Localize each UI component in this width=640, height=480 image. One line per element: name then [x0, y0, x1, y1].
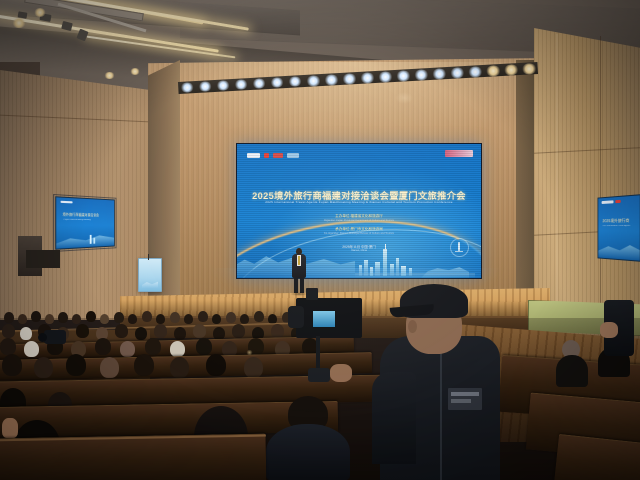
- audience-head: [170, 357, 189, 378]
- spotlight-glow: [288, 76, 303, 87]
- spotlight-glow: [342, 73, 358, 85]
- lectern-mic: [148, 254, 149, 260]
- spotlight-glow: [234, 79, 249, 90]
- speaker-legs: [294, 277, 298, 293]
- spotlight-glow: [521, 63, 537, 75]
- wall-emblem: [395, 92, 413, 104]
- foreground-attendee-suit: [270, 396, 346, 480]
- audience-head: [206, 354, 226, 376]
- attendee-hand: [2, 418, 18, 438]
- spotlight-glow: [396, 70, 412, 82]
- spotlight-glow: [360, 72, 376, 84]
- attendee-right-seated: [556, 340, 590, 386]
- truss-lamp-glow-1: [12, 18, 26, 28]
- speaker-tie: [298, 256, 300, 265]
- right-screen-wave: [598, 238, 639, 260]
- led-scanline-overlay: [237, 144, 481, 278]
- audience-camera-lens: [38, 333, 47, 342]
- videographer: [372, 276, 522, 480]
- lectern[interactable]: [138, 258, 162, 292]
- spotlight-glow: [324, 74, 340, 86]
- wall-seam-right-vert: [600, 36, 601, 336]
- audience-head: [2, 354, 22, 376]
- spotlight-glow: [467, 66, 483, 78]
- attendee-shoulders: [556, 355, 588, 387]
- right-screen-title-cn: 2025境外旅行商: [602, 217, 638, 223]
- photo-scene: 境外旅行商福建对接洽谈会 Fujian Matchmaking Meeting …: [0, 0, 640, 480]
- ceiling-downlight-2: [130, 68, 140, 75]
- speaker-legs: [300, 277, 304, 293]
- ceiling-downlight-1: [104, 72, 115, 79]
- spotlight-glow: [485, 65, 501, 77]
- right-screen-title-en: 2025 International Travel Agents: [602, 225, 638, 228]
- main-led-screen-frame: 2025境外旅行商福建对接洽谈会暨厦门文旅推介会 2025 Internatio…: [236, 143, 482, 279]
- spotlight-glow: [270, 77, 285, 88]
- camera-rig-grip: [308, 368, 330, 382]
- main-led-screen: 2025境外旅行商福建对接洽谈会暨厦门文旅推介会 2025 Internatio…: [237, 144, 481, 278]
- wall-highlight-right: [556, 34, 558, 334]
- spotlight-glow: [198, 81, 213, 92]
- videographer-hand: [330, 364, 352, 382]
- spotlight-glow: [432, 68, 448, 80]
- seat-block-right-3: [554, 434, 640, 480]
- house-light-glint: [246, 350, 253, 355]
- side-screen-right: 2025境外旅行商 2025 International Travel Agen…: [598, 194, 640, 262]
- jacket-patch-text: [451, 392, 479, 396]
- spotlight-glow: [180, 82, 195, 93]
- right-screen-logo-red: [615, 200, 620, 203]
- attendee-shoulders: [266, 424, 350, 480]
- spotlight-glow: [306, 75, 322, 87]
- audience-head: [34, 357, 53, 378]
- spotlight-glow: [503, 64, 519, 76]
- av-cabinet: [26, 250, 60, 268]
- spotlight-glow: [450, 67, 466, 79]
- camera-lens: [288, 306, 304, 328]
- lectern-graphic: [142, 278, 158, 288]
- camera-top-handle: [306, 288, 318, 300]
- audience-head: [244, 357, 263, 378]
- spotlight-glow: [216, 80, 231, 91]
- truss-lamp-glow-2: [34, 8, 46, 17]
- secondary-camera-hand: [600, 322, 618, 338]
- videographer-arm: [372, 372, 416, 464]
- spotlight-glow: [414, 69, 430, 81]
- audience-camera: [44, 330, 66, 344]
- audience-head: [100, 357, 119, 378]
- audience-head: [134, 354, 154, 376]
- spotlight-glow: [378, 71, 394, 83]
- audience-head: [66, 354, 86, 376]
- camera-flip-screen: [312, 310, 336, 328]
- jacket-patch-text: [451, 399, 471, 403]
- foreground-seat-back: [0, 434, 266, 480]
- right-screen-logo: [602, 200, 614, 204]
- videographer-ear: [408, 320, 417, 333]
- left-screen-bezel: [53, 194, 116, 252]
- jacket-seam: [440, 342, 442, 480]
- spotlight-glow: [252, 78, 267, 89]
